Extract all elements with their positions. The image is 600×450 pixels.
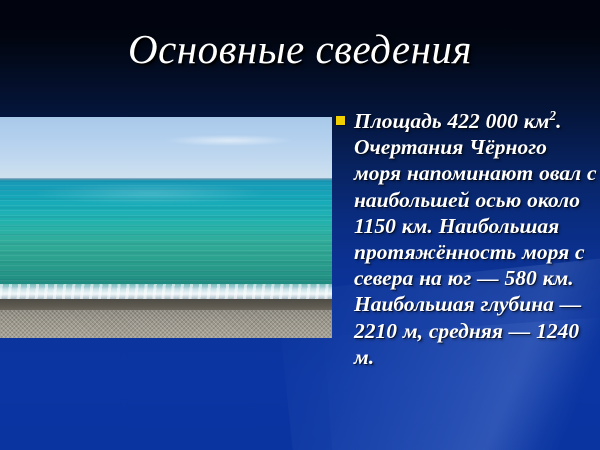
photo-sea (0, 180, 332, 286)
square-bullet-icon (336, 116, 345, 125)
slide-title: Основные сведения (0, 26, 600, 73)
photo-sea-glare (33, 182, 265, 205)
bullet-list-item: Площадь 422 000 км2. Очертания Чёрного м… (336, 108, 598, 370)
photo-sky (0, 117, 332, 179)
photo-pebble-texture (0, 310, 332, 338)
content-body: Площадь 422 000 км2. Очертания Чёрного м… (336, 108, 598, 370)
bullet-item-text: Площадь 422 000 км2. Очертания Чёрного м… (354, 108, 598, 370)
presentation-slide: Основные сведения Площадь 422 000 км2. О… (0, 0, 600, 450)
bullet-text-prefix: Площадь 422 000 км (354, 109, 549, 133)
photo-pebble-beach (0, 310, 332, 338)
sea-photo (0, 117, 332, 338)
photo-cloud (166, 135, 292, 146)
bullet-text-rest: . Очертания Чёрного моря напоминают овал… (354, 109, 597, 369)
